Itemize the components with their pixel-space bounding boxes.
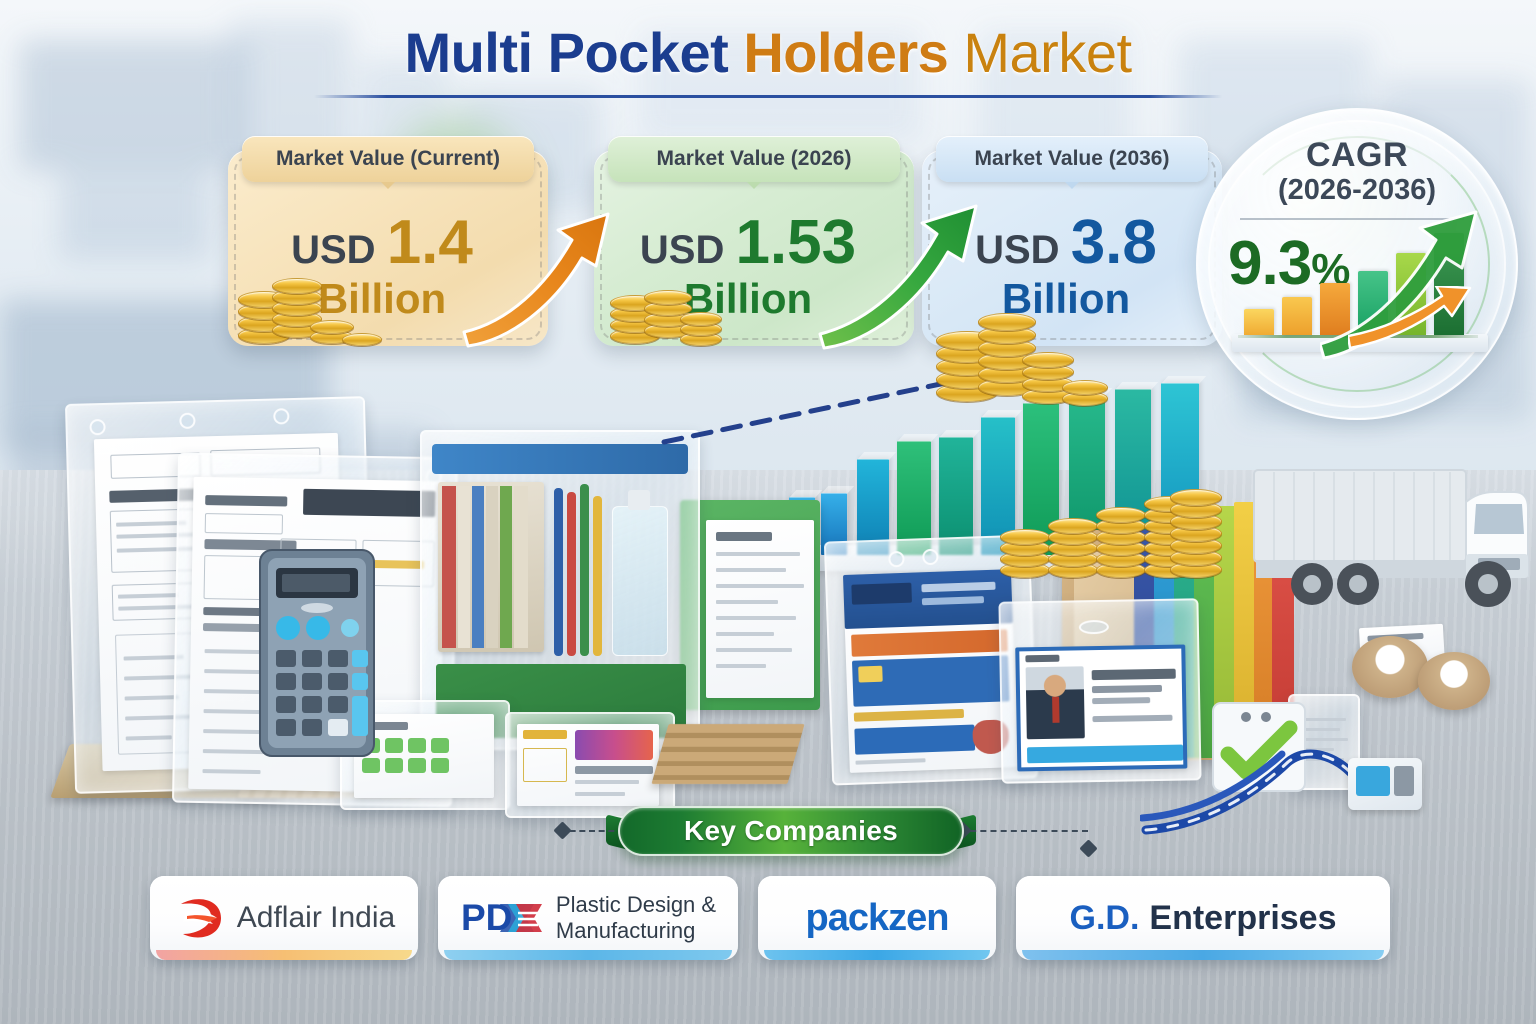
cagr-label: CAGR [1198, 136, 1516, 175]
pdm-stripes-icon: PD [460, 894, 546, 942]
card-pouch-right [505, 712, 675, 818]
tape-roll-1 [1352, 636, 1428, 698]
company-logo-row: Adflair India PD Plastic Design & Manufa… [0, 876, 1536, 976]
key-companies-section: Key Companies [0, 806, 1536, 862]
company-name: Enterprises [1149, 899, 1336, 938]
infographic-canvas: Multi Pocket Holders Market Market Value… [0, 0, 1536, 1024]
connector-node-right-2 [1079, 839, 1097, 857]
cagr-range: (2026-2036) [1198, 174, 1516, 207]
gold-coin-stack-icon [234, 258, 394, 348]
company-logo-gd-enterprises[interactable]: G.D. Enterprises [1016, 876, 1390, 960]
company-logo-plastic-design-manufacturing[interactable]: PD Plastic Design & Manufacturing [438, 876, 738, 960]
company-name: Plastic Design & Manufacturing [556, 892, 716, 943]
connector-node-left [553, 821, 571, 839]
logo-card-underbar [1022, 950, 1384, 960]
key-companies-banner: Key Companies [618, 806, 964, 856]
card-header-label: Market Value (Current) [242, 136, 534, 182]
calculator-icon [258, 548, 376, 758]
title-part-suffix: Market [963, 21, 1131, 84]
card-header-label: Market Value (2026) [608, 136, 900, 182]
company-logo-adflair-india[interactable]: Adflair India [150, 876, 418, 960]
company-name-line2: Manufacturing [556, 918, 716, 944]
company-name: packzen [806, 897, 949, 940]
badge-reel-icon [1348, 758, 1422, 810]
company-logo-packzen[interactable]: packzen [758, 876, 996, 960]
card-number: 1.4 [387, 208, 473, 277]
logo-card-underbar [156, 950, 412, 960]
cagr-bubble: CAGR (2026-2036) 9.3% [1196, 108, 1518, 420]
title-underline [314, 95, 1222, 98]
wooden-blocks [651, 724, 804, 784]
title-part-accent: Holders [743, 21, 963, 84]
cagr-bar [1244, 309, 1274, 335]
title-part-primary: Multi Pocket [404, 21, 743, 84]
company-name-prefix: G.D. [1070, 899, 1140, 938]
delivery-truck-icon [1240, 448, 1536, 648]
company-name-line1: Plastic Design & [556, 892, 716, 918]
cagr-orange-trend-arrow [1348, 286, 1478, 356]
card-number: 3.8 [1071, 208, 1157, 277]
growth-arrow-gold [462, 196, 642, 352]
logo-card-underbar [764, 950, 990, 960]
logo-card-underbar [444, 950, 732, 960]
tape-roll-2 [1418, 652, 1490, 710]
red-swoosh-icon [173, 892, 227, 944]
cagr-bar [1282, 297, 1312, 335]
growth-arrow-green [818, 188, 1008, 354]
key-companies-label: Key Companies [684, 815, 898, 847]
gold-coin-stack-icon [1000, 470, 1230, 580]
page-title: Multi Pocket Holders Market [0, 24, 1536, 98]
card-header-label: Market Value (2036) [936, 136, 1208, 182]
company-name: Adflair India [237, 901, 395, 935]
connector-line-right [960, 830, 1088, 832]
folder-document [706, 520, 814, 698]
